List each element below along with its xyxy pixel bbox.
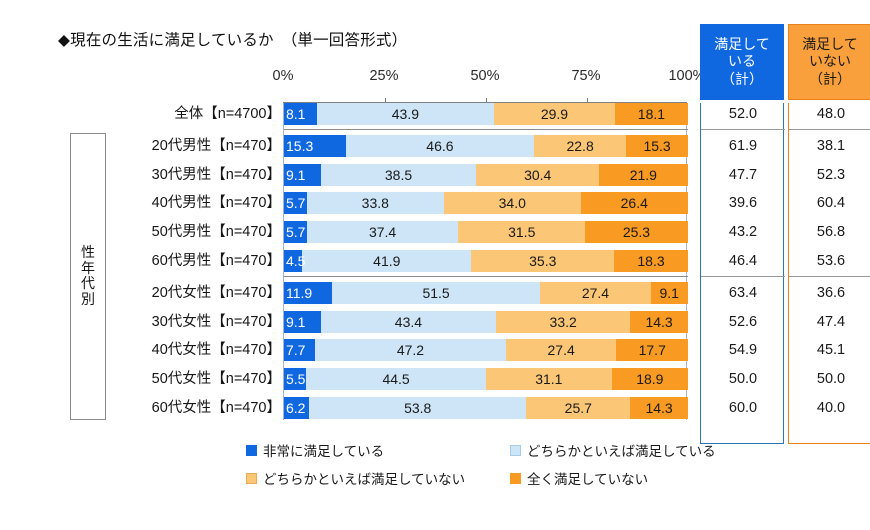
bar-segment: 9.1: [284, 311, 321, 333]
x-axis-tick-50: 50%: [470, 68, 499, 84]
bar-segment: 27.4: [540, 282, 651, 304]
summary-separator: [789, 276, 870, 277]
bar-row: 5.737.431.525.3: [284, 221, 688, 243]
summary-body-satisfied: 52.061.947.739.643.246.463.452.654.950.0…: [700, 103, 784, 444]
plot-area: 8.143.929.918.115.346.622.815.39.138.530…: [283, 103, 687, 420]
group-bracket-char: 別: [72, 292, 104, 308]
bar-segment-value: 7.7: [286, 343, 305, 357]
group-bracket-label: 性年代別: [72, 245, 104, 308]
bar-segment-value: 15.3: [643, 139, 670, 153]
bar-segment: 15.3: [284, 135, 346, 157]
category-label: 全体【n=4700】: [81, 107, 281, 122]
summary-value: 50.0: [701, 368, 785, 390]
summary-value: 60.0: [701, 397, 785, 419]
bar-segment-value: 30.4: [524, 168, 551, 182]
bar-segment: 34.0: [444, 192, 581, 214]
legend-item[interactable]: 全く満足していない: [510, 468, 648, 488]
legend-swatch-icon: [510, 473, 521, 484]
summary-value: 53.6: [789, 250, 870, 272]
category-label: 20代男性【n=470】: [81, 139, 281, 154]
bar-row: 9.138.530.421.9: [284, 164, 688, 186]
bar-segment-value: 18.3: [637, 254, 664, 268]
bar-segment: 53.8: [309, 397, 526, 419]
x-axis-tick-labels: 0%25%50%75%100%: [283, 68, 687, 88]
summary-value: 40.0: [789, 397, 870, 419]
bar-segment: 17.7: [616, 339, 688, 361]
legend-item[interactable]: どちらかといえば満足していない: [246, 468, 465, 488]
bar-segment: 15.3: [626, 135, 688, 157]
bar-segment: 29.9: [494, 103, 615, 125]
bar-segment-value: 38.5: [385, 168, 412, 182]
summary-header-line: （計）: [721, 71, 763, 88]
category-label: 50代男性【n=470】: [81, 225, 281, 240]
bar-segment: 22.8: [534, 135, 626, 157]
bar-segment: 9.1: [651, 282, 688, 304]
bar-segment-value: 34.0: [499, 196, 526, 210]
group-bracket-char: 代: [72, 276, 104, 292]
bar-segment-value: 43.9: [392, 107, 419, 121]
bar-segment: 31.1: [486, 368, 612, 390]
bar-row: 9.143.433.214.3: [284, 311, 688, 333]
bar-segment-value: 25.7: [565, 401, 592, 415]
bar-segment-value: 27.4: [548, 343, 575, 357]
summary-value: 38.1: [789, 135, 870, 157]
bar-segment: 18.1: [615, 103, 688, 125]
summary-header-line: 満足して: [802, 36, 858, 53]
bar-segment: 38.5: [321, 164, 477, 186]
x-axis-tick-25: 25%: [369, 68, 398, 84]
bar-segment-value: 31.5: [508, 225, 535, 239]
bar-segment: 5.5: [284, 368, 306, 390]
bar-segment-value: 9.1: [286, 315, 305, 329]
bar-segment: 9.1: [284, 164, 321, 186]
bar-segment-value: 46.6: [426, 139, 453, 153]
legend-label: どちらかといえば満足していない: [263, 468, 465, 488]
summary-value: 39.6: [701, 192, 785, 214]
bar-segment-value: 41.9: [373, 254, 400, 268]
bar-row: 5.733.834.026.4: [284, 192, 688, 214]
bar-segment-value: 5.7: [286, 225, 305, 239]
category-label: 40代女性【n=470】: [81, 343, 281, 358]
bar-segment-value: 14.3: [645, 401, 672, 415]
bar-segment: 26.4: [581, 192, 688, 214]
legend-label: 全く満足していない: [527, 468, 648, 488]
bar-segment-value: 9.1: [286, 168, 305, 182]
summary-value: 47.4: [789, 311, 870, 333]
legend-swatch-icon: [246, 473, 257, 484]
bar-segment: 51.5: [332, 282, 540, 304]
summary-header-line: いる: [728, 53, 756, 70]
summary-value: 60.4: [789, 192, 870, 214]
group-separator: [284, 129, 688, 130]
summary-value: 50.0: [789, 368, 870, 390]
bar-segment: 4.5: [284, 250, 302, 272]
x-axis-tick-75: 75%: [571, 68, 600, 84]
bar-segment-value: 33.8: [362, 196, 389, 210]
bar-segment: 43.9: [317, 103, 494, 125]
bar-segment-value: 14.3: [645, 315, 672, 329]
summary-value: 52.0: [701, 103, 785, 125]
bar-segment-value: 22.8: [566, 139, 593, 153]
group-bracket-char: 性: [72, 245, 104, 261]
bar-segment: 7.7: [284, 339, 315, 361]
bar-segment-value: 29.9: [541, 107, 568, 121]
bar-segment-value: 18.1: [638, 107, 665, 121]
category-label: 30代女性【n=470】: [81, 315, 281, 330]
bar-segment: 47.2: [315, 339, 506, 361]
summary-value: 48.0: [789, 103, 870, 125]
summary-value: 46.4: [701, 250, 785, 272]
summary-header-line: 満足して: [714, 36, 770, 53]
bar-segment-value: 43.4: [395, 315, 422, 329]
bar-segment-value: 5.7: [286, 196, 305, 210]
bar-segment-value: 26.4: [621, 196, 648, 210]
bar-segment-value: 47.2: [397, 343, 424, 357]
bar-segment: 5.7: [284, 221, 307, 243]
summary-separator: [701, 276, 785, 277]
summary-value: 45.1: [789, 339, 870, 361]
bar-segment: 6.2: [284, 397, 309, 419]
group-bracket-char: 年: [72, 261, 104, 277]
summary-header-not_satisfied: 満足していない（計）: [788, 24, 870, 100]
bar-segment: 41.9: [302, 250, 471, 272]
bar-segment-value: 4.5: [286, 254, 305, 268]
summary-body-not_satisfied: 48.038.152.360.456.853.636.647.445.150.0…: [788, 103, 870, 444]
bar-segment: 27.4: [506, 339, 617, 361]
legend-swatch-icon: [246, 445, 257, 456]
category-label: 30代男性【n=470】: [81, 168, 281, 183]
category-label: 20代女性【n=470】: [81, 286, 281, 301]
bar-segment: 14.3: [630, 397, 688, 419]
bar-segment-value: 51.5: [422, 286, 449, 300]
summary-header-line: いない: [809, 53, 851, 70]
bar-row: 6.253.825.714.3: [284, 397, 688, 419]
summary-header-line: （計）: [809, 71, 851, 88]
category-label: 40代男性【n=470】: [81, 196, 281, 211]
legend-label: 非常に満足している: [263, 440, 384, 460]
bar-segment: 8.1: [284, 103, 317, 125]
group-separator: [284, 276, 688, 277]
category-label: 60代女性【n=470】: [81, 401, 281, 416]
x-axis-tick-0: 0%: [273, 68, 294, 84]
bar-segment: 30.4: [476, 164, 599, 186]
summary-value: 43.2: [701, 221, 785, 243]
bar-segment-value: 8.1: [286, 107, 305, 121]
bar-segment: 31.5: [458, 221, 585, 243]
page-title: ◆現在の生活に満足しているか （単一回答形式）: [58, 28, 407, 50]
bar-segment: 14.3: [630, 311, 688, 333]
bar-segment-value: 37.4: [369, 225, 396, 239]
summary-value: 47.7: [701, 164, 785, 186]
legend-item[interactable]: どちらかといえば満足している: [510, 440, 716, 460]
bar-segment: 33.8: [307, 192, 444, 214]
bar-segment: 46.6: [346, 135, 534, 157]
bar-segment: 5.7: [284, 192, 307, 214]
bar-segment: 43.4: [321, 311, 496, 333]
bar-segment: 25.7: [526, 397, 630, 419]
legend-label: どちらかといえば満足している: [527, 440, 716, 460]
bar-segment-value: 27.4: [582, 286, 609, 300]
bar-segment-value: 6.2: [286, 401, 305, 415]
summary-value: 54.9: [701, 339, 785, 361]
summary-value: 36.6: [789, 282, 870, 304]
summary-value: 52.3: [789, 164, 870, 186]
category-label: 60代男性【n=470】: [81, 254, 281, 269]
legend-swatch-icon: [510, 445, 521, 456]
bar-segment-value: 15.3: [286, 139, 313, 153]
bar-segment: 21.9: [599, 164, 687, 186]
summary-separator: [789, 129, 870, 130]
bar-row: 15.346.622.815.3: [284, 135, 688, 157]
bar-segment: 35.3: [471, 250, 614, 272]
bar-segment-value: 35.3: [529, 254, 556, 268]
bar-segment-value: 31.1: [535, 372, 562, 386]
bar-segment-value: 44.5: [382, 372, 409, 386]
bar-segment-value: 21.9: [630, 168, 657, 182]
bar-segment: 18.3: [614, 250, 688, 272]
bar-row: 5.544.531.118.9: [284, 368, 688, 390]
bar-segment-value: 17.7: [639, 343, 666, 357]
bar-segment: 25.3: [585, 221, 687, 243]
summary-value: 63.4: [701, 282, 785, 304]
summary-value: 56.8: [789, 221, 870, 243]
chart-page: ◆現在の生活に満足しているか （単一回答形式） 0%25%50%75%100% …: [0, 0, 870, 530]
bar-segment: 11.9: [284, 282, 332, 304]
summary-separator: [701, 129, 785, 130]
bar-row: 11.951.527.49.1: [284, 282, 688, 304]
bar-row: 4.541.935.318.3: [284, 250, 688, 272]
bar-segment-value: 25.3: [623, 225, 650, 239]
bar-segment-value: 33.2: [550, 315, 577, 329]
bar-segment: 33.2: [496, 311, 630, 333]
bar-segment: 44.5: [306, 368, 486, 390]
bar-segment-value: 18.9: [636, 372, 663, 386]
summary-header-satisfied: 満足している（計）: [700, 24, 784, 100]
summary-value: 52.6: [701, 311, 785, 333]
bar-segment: 18.9: [612, 368, 688, 390]
bar-segment-value: 53.8: [404, 401, 431, 415]
bar-row: 8.143.929.918.1: [284, 103, 688, 125]
legend-item[interactable]: 非常に満足している: [246, 440, 384, 460]
bar-segment-value: 11.9: [286, 286, 312, 300]
bar-segment-value: 9.1: [659, 286, 678, 300]
summary-value: 61.9: [701, 135, 785, 157]
bar-row: 7.747.227.417.7: [284, 339, 688, 361]
bar-segment-value: 5.5: [286, 372, 305, 386]
bar-segment: 37.4: [307, 221, 458, 243]
category-label: 50代女性【n=470】: [81, 372, 281, 387]
